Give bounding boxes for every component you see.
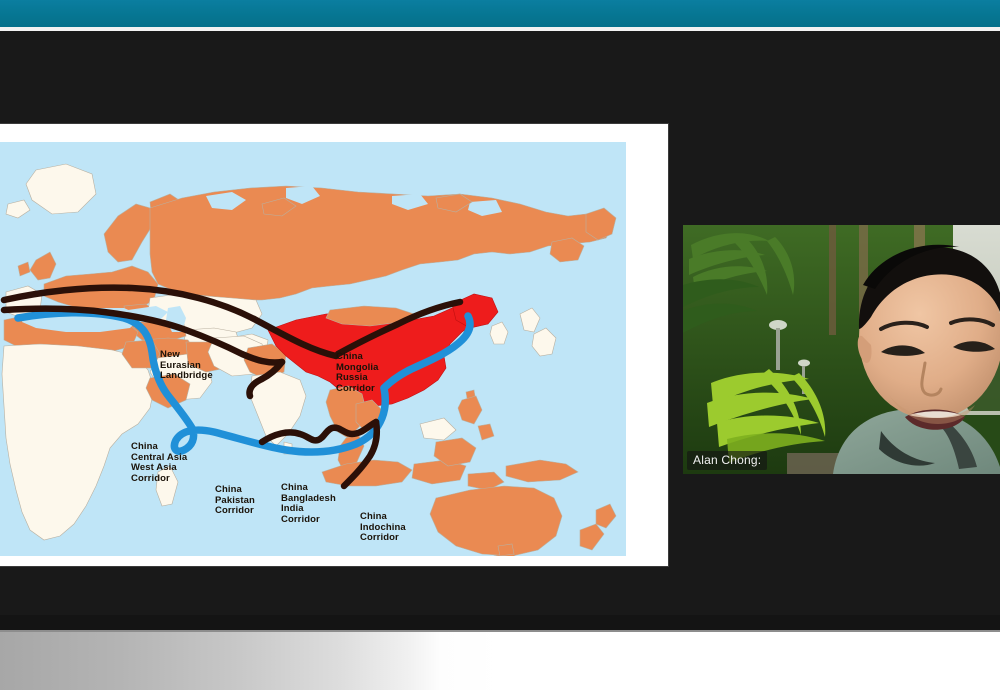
- participant-webcam-image: [683, 225, 1000, 474]
- app-title-bar: [0, 0, 1000, 28]
- page-footer-gradient: [0, 632, 1000, 690]
- participant-name-badge: Alan Chong:: [687, 451, 767, 470]
- shared-screen-slide[interactable]: .bri { fill:#ea8a52; stroke:#b9b0a0; str…: [0, 124, 668, 566]
- belt-and-road-map[interactable]: .bri { fill:#ea8a52; stroke:#b9b0a0; str…: [0, 142, 626, 556]
- meeting-window: .bri { fill:#ea8a52; stroke:#b9b0a0; str…: [0, 0, 1000, 690]
- participant-video-tile[interactable]: Alan Chong:: [683, 225, 1000, 474]
- world-map-graphic: .bri { fill:#ea8a52; stroke:#b9b0a0; str…: [0, 142, 626, 556]
- stage-bottom-band: [0, 615, 1000, 631]
- participant-video-feed: [683, 225, 1000, 474]
